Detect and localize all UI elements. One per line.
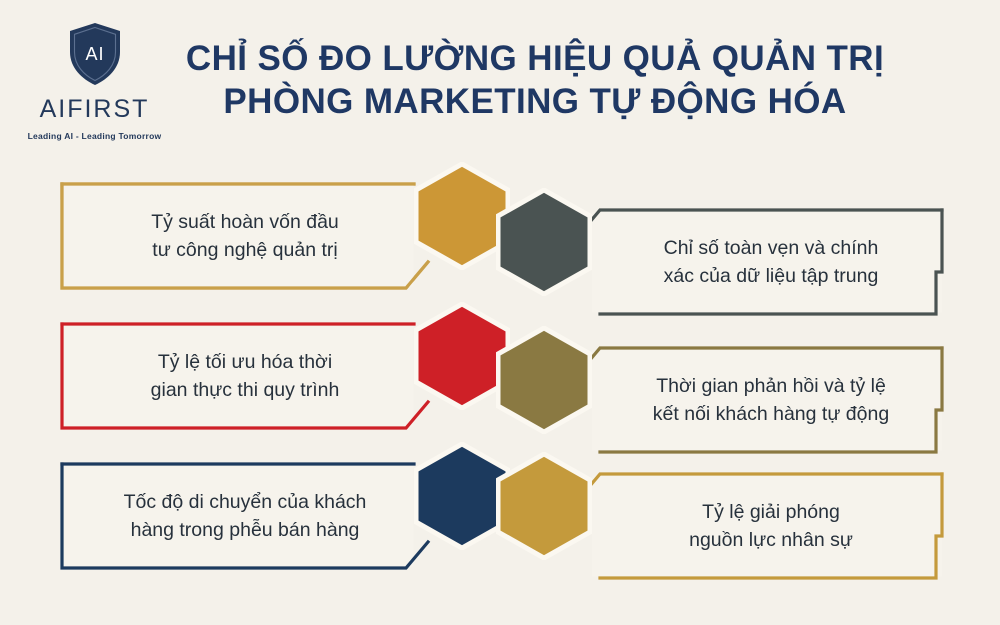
metric-label: Tỷ lệ tối ưu hóa thời gian thực thi quy … bbox=[84, 316, 406, 436]
metric-item-left-3: Tốc độ di chuyển của khách hàng trong ph… bbox=[56, 456, 504, 576]
metric-label-line-1: Chỉ số toàn vẹn và chính bbox=[606, 234, 936, 262]
hexagon-olive-icon bbox=[496, 326, 592, 434]
metric-item-right-3: Tỷ lệ giải phóng nguồn lực nhân sự bbox=[502, 466, 950, 586]
metric-label: Tốc độ di chuyển của khách hàng trong ph… bbox=[84, 456, 406, 576]
metric-label: Tỷ lệ giải phóng nguồn lực nhân sự bbox=[606, 466, 936, 586]
hexagon-slate-icon bbox=[496, 188, 592, 296]
metric-label-line-1: Tỷ suất hoàn vốn đầu bbox=[84, 208, 406, 236]
metric-item-right-1: Chỉ số toàn vẹn và chính xác của dữ liệu… bbox=[502, 202, 950, 322]
metric-item-left-1: Tỷ suất hoàn vốn đầu tư công nghệ quản t… bbox=[56, 176, 504, 296]
metric-label: Tỷ suất hoàn vốn đầu tư công nghệ quản t… bbox=[84, 176, 406, 296]
header: AI AIFIRST Leading AI - Leading Tomorrow… bbox=[0, 0, 1000, 155]
metric-item-right-2: Thời gian phản hồi và tỷ lệ kết nối khác… bbox=[502, 340, 950, 460]
page-title-line-2: PHÒNG MARKETING TỰ ĐỘNG HÓA bbox=[185, 81, 885, 124]
svg-text:AI: AI bbox=[85, 44, 104, 64]
shield-ai-logo-icon: AI bbox=[67, 22, 123, 91]
brand-logo: AI AIFIRST Leading AI - Leading Tomorrow bbox=[22, 22, 167, 134]
page-title-line-1: CHỈ SỐ ĐO LƯỜNG HIỆU QUẢ QUẢN TRỊ bbox=[185, 38, 885, 81]
metric-label-line-1: Tỷ lệ tối ưu hóa thời bbox=[84, 348, 406, 376]
page-title: CHỈ SỐ ĐO LƯỜNG HIỆU QUẢ QUẢN TRỊ PHÒNG … bbox=[185, 38, 885, 123]
brand-tagline: Leading AI - Leading Tomorrow bbox=[28, 131, 162, 141]
metric-label: Chỉ số toàn vẹn và chính xác của dữ liệu… bbox=[606, 202, 936, 322]
metric-label-line-1: Thời gian phản hồi và tỷ lệ bbox=[606, 372, 936, 400]
brand-wordmark: AIFIRST bbox=[40, 97, 150, 122]
metric-label-line-2: hàng trong phễu bán hàng bbox=[84, 516, 406, 544]
metric-label-line-2: nguồn lực nhân sự bbox=[606, 526, 936, 554]
metric-label: Thời gian phản hồi và tỷ lệ kết nối khác… bbox=[606, 340, 936, 460]
metric-label-line-1: Tỷ lệ giải phóng bbox=[606, 498, 936, 526]
metric-item-left-2: Tỷ lệ tối ưu hóa thời gian thực thi quy … bbox=[56, 316, 504, 436]
hexagon-gold-2-icon bbox=[496, 452, 592, 560]
metric-label-line-2: gian thực thi quy trình bbox=[84, 376, 406, 404]
metric-label-line-1: Tốc độ di chuyển của khách bbox=[84, 488, 406, 516]
metric-label-line-2: tư công nghệ quản trị bbox=[84, 236, 406, 264]
metric-label-line-2: kết nối khách hàng tự động bbox=[606, 400, 936, 428]
metric-label-line-2: xác của dữ liệu tập trung bbox=[606, 262, 936, 290]
